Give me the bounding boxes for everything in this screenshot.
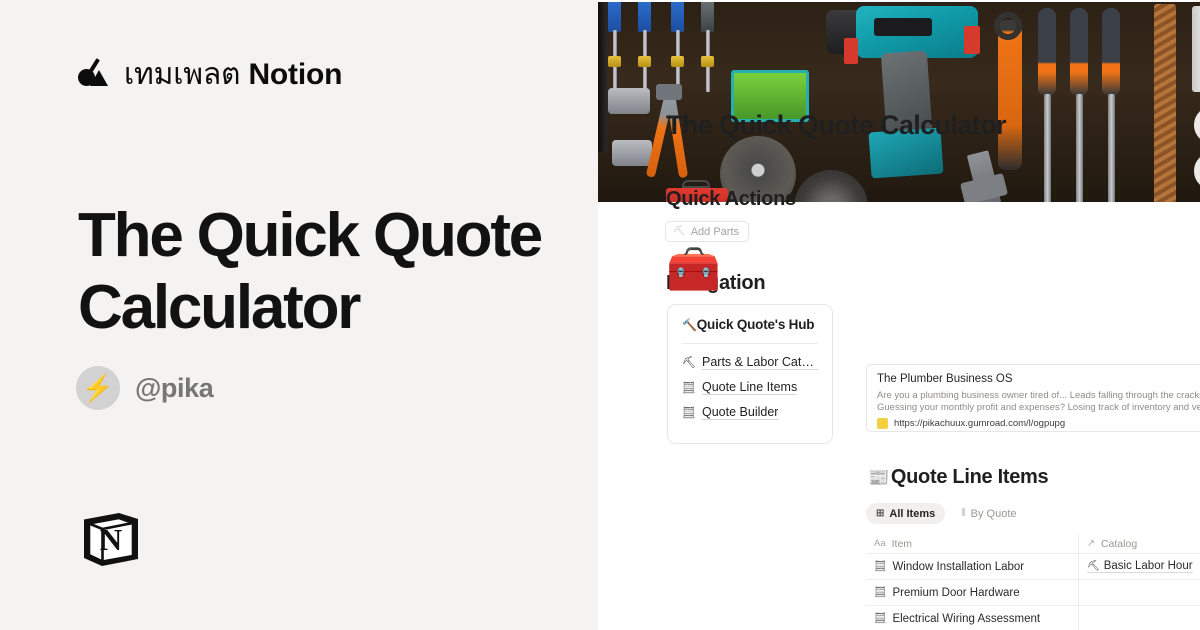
nav-link-parts-labor-catalog[interactable]: ⛏ Parts & Labor Catal... (682, 350, 818, 375)
text-type-icon: Aa (874, 538, 886, 549)
bookmark-title: The Plumber Business OS (877, 372, 1200, 387)
pickaxe-icon: ⛏ (673, 227, 686, 237)
database-table: Aa Item ↗ Catalog 🧮 Window Installation … (866, 534, 1200, 630)
newspaper-icon: 📰 (868, 469, 889, 486)
notion-cube-logo-icon: N (78, 506, 144, 572)
table-row[interactable]: 🧮 Electrical Wiring Assessment (866, 606, 1200, 630)
author-row: ⚡ @pika (76, 366, 213, 410)
brand-row: เทมเพลต Notion (78, 58, 342, 92)
table-row[interactable]: 🧮 Window Installation Labor ⛏ Basic Labo… (866, 554, 1200, 580)
nav-link-label: Quote Line Items (702, 380, 797, 395)
og-card: เทมเพลต Notion The Quick Quote Calculato… (0, 0, 1200, 630)
column-header-catalog[interactable]: ↗ Catalog (1079, 534, 1200, 553)
cell-text: Electrical Wiring Assessment (892, 613, 1040, 625)
author-handle: @pika (135, 373, 213, 404)
page-title: The Quick Quote Calculator (78, 200, 598, 344)
tab-label: All Items (889, 508, 935, 520)
cell-catalog[interactable]: ⛏ Basic Labor Hour (1079, 554, 1200, 579)
bookmark-description: Are you a plumbing business owner tired … (877, 390, 1200, 414)
bookmark-url-row: ⚡ https://pikachuux.gumroad.com/l/ogpupg (877, 418, 1200, 429)
table-header-row: Aa Item ↗ Catalog (866, 534, 1200, 554)
column-label: Item (892, 538, 912, 550)
cell-catalog[interactable] (1079, 580, 1200, 605)
cell-text: Window Installation Labor (892, 561, 1024, 573)
brand-product-name: Notion (248, 58, 342, 91)
navigation-card[interactable]: 🔨Quick Quote's Hub ⛏ Parts & Labor Catal… (667, 304, 833, 444)
add-parts-label: Add Parts (691, 226, 739, 238)
quick-actions-heading: Quick Actions (666, 188, 796, 211)
cell-text: Premium Door Hardware (892, 587, 1019, 599)
bookmark-card[interactable]: The Plumber Business OS Are you a plumbi… (866, 364, 1200, 432)
abacus-icon: 🧮 (682, 406, 695, 419)
divider (682, 343, 818, 344)
left-panel: เทมเพลต Notion The Quick Quote Calculato… (0, 0, 598, 630)
nav-link-quote-line-items[interactable]: 🧮 Quote Line Items (682, 375, 818, 400)
cell-catalog[interactable] (1079, 606, 1200, 630)
bookmark-url: https://pikachuux.gumroad.com/l/ogpupg (894, 418, 1065, 429)
abacus-icon: 🧮 (874, 587, 886, 598)
table-view-icon: ⊞ (876, 508, 884, 519)
hammer-icon: 🔨 (682, 318, 697, 332)
cell-item[interactable]: 🧮 Premium Door Hardware (866, 580, 1079, 605)
nav-link-label: Quote Builder (702, 405, 778, 420)
nav-link-quote-builder[interactable]: 🧮 Quote Builder (682, 400, 818, 425)
favicon-icon: ⚡ (877, 418, 888, 429)
preview-page-title: The Quick Quote Calculator (666, 108, 1006, 142)
relation-chip[interactable]: ⛏ Basic Labor Hour (1087, 560, 1193, 573)
relation-type-icon: ↗ (1087, 538, 1095, 549)
column-header-item[interactable]: Aa Item (866, 534, 1079, 553)
table-row[interactable]: 🧮 Premium Door Hardware (866, 580, 1200, 606)
abacus-icon: 🧮 (682, 381, 695, 394)
pickaxe-icon: ⛏ (1087, 561, 1100, 572)
abacus-icon: 🧮 (874, 613, 886, 624)
database-title: 📰 Quote Line Items (868, 466, 1048, 489)
nav-card-title: 🔨Quick Quote's Hub (682, 316, 818, 334)
tab-label: By Quote (971, 508, 1017, 520)
nav-card-title-text: Quick Quote's Hub (697, 317, 815, 332)
database-view-tabs: ⊞ All Items ⦀ By Quote (866, 503, 1027, 524)
relation-label: Basic Labor Hour (1104, 560, 1193, 572)
brand-thai-word: เทมเพลต (124, 58, 240, 91)
nav-link-label: Parts & Labor Catal... (702, 355, 818, 370)
database-title-text: Quote Line Items (891, 466, 1048, 489)
abacus-icon: 🧮 (874, 561, 886, 572)
page-icon-emoji: 🧰 (666, 248, 721, 292)
tab-all-items[interactable]: ⊞ All Items (866, 503, 945, 524)
add-parts-button[interactable]: ⛏ Add Parts (665, 221, 749, 242)
notion-mark-icon (78, 59, 110, 91)
notion-page-preview: 🧰 The Quick Quote Calculator Quick Actio… (598, 0, 1200, 630)
avatar-emoji: ⚡ (82, 375, 114, 401)
avatar: ⚡ (76, 366, 120, 410)
brand-text: เทมเพลต Notion (124, 58, 342, 92)
board-view-icon: ⦀ (961, 508, 965, 519)
cell-item[interactable]: 🧮 Electrical Wiring Assessment (866, 606, 1079, 630)
cover-image (598, 2, 1200, 202)
pickaxe-icon: ⛏ (682, 356, 695, 369)
tab-by-quote[interactable]: ⦀ By Quote (951, 503, 1026, 524)
cell-item[interactable]: 🧮 Window Installation Labor (866, 554, 1079, 579)
column-label: Catalog (1101, 538, 1137, 550)
